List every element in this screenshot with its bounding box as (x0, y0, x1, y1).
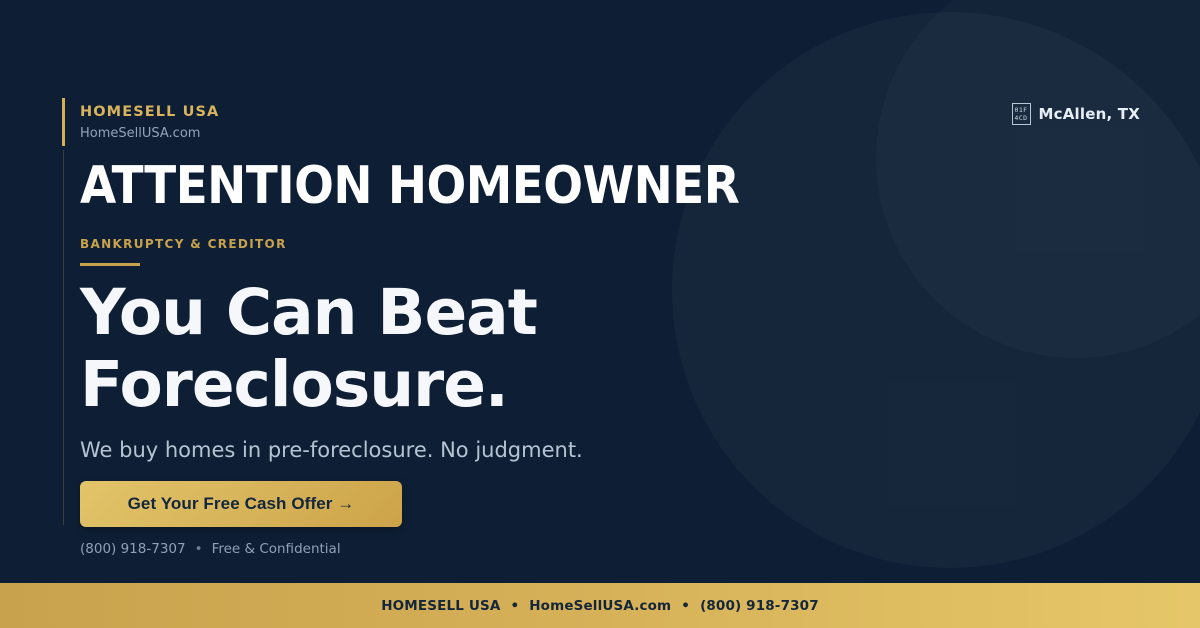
trust-line: (800) 918-7307 • Free & Confidential (80, 541, 341, 557)
trust-note: Free & Confidential (212, 541, 341, 557)
footer-phone[interactable]: (800) 918-7307 (700, 598, 819, 614)
eyebrow-label: BANKRUPTCY & CREDITOR (80, 238, 287, 251)
attention-kicker: ATTENTION HOMEOWNER (80, 160, 739, 212)
cash-offer-button-label: Get Your Free Cash Offer → (128, 494, 355, 514)
brand-website: HomeSellUSA.com (80, 127, 219, 141)
brand-block: HOMESELL USA HomeSellUSA.com (80, 105, 219, 141)
cash-offer-button[interactable]: Get Your Free Cash Offer → (80, 481, 402, 527)
category-eyebrow: BANKRUPTCY & CREDITOR (80, 238, 287, 266)
vertical-rule (63, 150, 64, 525)
tofu-hex-top: 01F (1015, 106, 1028, 115)
trust-separator: • (195, 541, 203, 557)
tofu-hex-bottom: 4CD (1015, 114, 1028, 123)
footer-content: HOMESELL USA • HomeSellUSA.com • (800) 9… (381, 598, 819, 614)
location-badge: 01F 4CD McAllen, TX (1012, 103, 1140, 125)
eyebrow-underline (80, 263, 140, 266)
footer-brand: HOMESELL USA (381, 598, 500, 614)
footer-separator-1: • (510, 598, 519, 614)
footer-website[interactable]: HomeSellUSA.com (529, 598, 671, 614)
page-title: You Can Beat Foreclosure. (80, 277, 537, 421)
footer-bar: HOMESELL USA • HomeSellUSA.com • (800) 9… (0, 583, 1200, 628)
subheadline: We buy homes in pre-foreclosure. No judg… (80, 437, 583, 464)
trust-phone[interactable]: (800) 918-7307 (80, 541, 186, 557)
location-label: McAllen, TX (1039, 105, 1140, 123)
brand-name: HOMESELL USA (80, 105, 219, 121)
gold-accent-bar (62, 98, 65, 146)
footer-separator-2: • (681, 598, 690, 614)
location-pin-icon: 01F 4CD (1012, 103, 1031, 125)
headline-line-2: Foreclosure. (80, 349, 537, 421)
headline-line-1: You Can Beat (80, 277, 537, 349)
